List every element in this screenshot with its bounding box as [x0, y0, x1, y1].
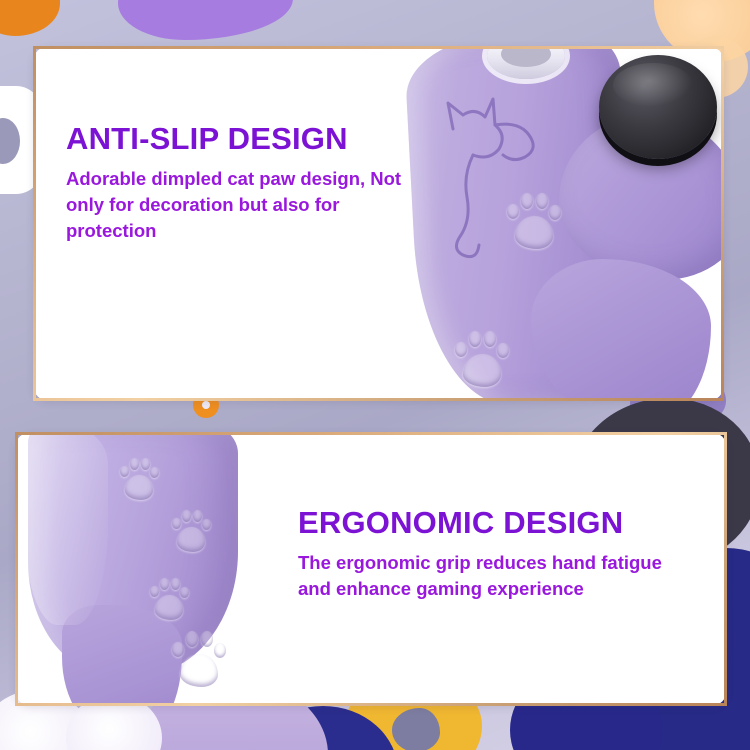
yellow-blob-hole-decoration — [392, 708, 440, 750]
paw-toe-pad — [186, 631, 198, 647]
paw-toe-pad — [141, 458, 150, 470]
paw-toe-pad — [201, 631, 213, 647]
feature-panel-canvas: ANTI-SLIP DESIGN Adorable dimpled cat pa… — [0, 0, 750, 750]
paw-toe-pad — [469, 331, 481, 347]
paw-main-pad — [463, 354, 501, 387]
panel-text-anti-slip: ANTI-SLIP DESIGN Adorable dimpled cat pa… — [66, 123, 426, 245]
controller-grip-image-anti-slip — [391, 49, 721, 398]
paw-toe-pad — [172, 518, 181, 529]
paw-toe-pad — [521, 193, 533, 209]
paw-toe-pad — [202, 519, 211, 530]
orange-blob-top-left-decoration — [0, 0, 60, 36]
paw-main-pad — [155, 595, 183, 620]
feature-panel-ergonomic: ERGONOMIC DESIGN The ergonomic grip redu… — [15, 432, 727, 706]
paw-toe-pad — [150, 586, 159, 597]
paw-toe-pad — [150, 467, 159, 478]
paw-toe-pad — [120, 466, 129, 477]
controller-thumbstick-icon — [599, 55, 717, 159]
panel-headline-anti-slip: ANTI-SLIP DESIGN — [66, 123, 426, 156]
cat-paw-emboss-icon — [116, 455, 162, 503]
controller-grip-image-ergonomic — [18, 435, 288, 703]
paw-toe-pad — [549, 205, 561, 220]
paw-toe-pad — [171, 578, 180, 590]
cat-paw-emboss-icon — [168, 627, 230, 691]
paw-toe-pad — [193, 510, 202, 522]
paw-toe-pad — [160, 578, 169, 590]
paw-toe-pad — [536, 193, 548, 209]
paw-main-pad — [515, 216, 553, 249]
panel-body-ergonomic: The ergonomic grip reduces hand fatigue … — [298, 550, 698, 603]
paw-toe-pad — [507, 204, 519, 219]
paw-main-pad — [180, 654, 218, 687]
paw-toe-pad — [130, 458, 139, 470]
paw-toe-pad — [172, 642, 184, 657]
cat-paw-emboss-icon — [503, 189, 565, 253]
paw-main-pad — [177, 527, 205, 552]
cat-paw-emboss-icon — [168, 507, 214, 555]
white-ring-left-hole-decoration — [0, 118, 20, 164]
paw-toe-pad — [180, 587, 189, 598]
cat-paw-emboss-icon — [146, 575, 192, 623]
paw-toe-pad — [484, 331, 496, 347]
feature-panel-anti-slip: ANTI-SLIP DESIGN Adorable dimpled cat pa… — [33, 46, 724, 401]
cat-paw-emboss-icon — [451, 327, 513, 391]
paw-toe-pad — [455, 342, 467, 357]
panel-text-ergonomic: ERGONOMIC DESIGN The ergonomic grip redu… — [298, 507, 698, 602]
paw-main-pad — [125, 475, 153, 500]
paw-toe-pad — [214, 643, 226, 658]
purple-blob-top-decoration — [118, 0, 293, 40]
panel-body-anti-slip: Adorable dimpled cat paw design, Not onl… — [66, 166, 426, 245]
navy-blob-bottom-center-decoration — [248, 706, 398, 750]
panel-headline-ergonomic: ERGONOMIC DESIGN — [298, 507, 698, 540]
controller-grip-lower-icon — [531, 259, 711, 398]
controller-grip-highlight — [24, 435, 108, 625]
paw-toe-pad — [182, 510, 191, 522]
paw-toe-pad — [497, 343, 509, 358]
